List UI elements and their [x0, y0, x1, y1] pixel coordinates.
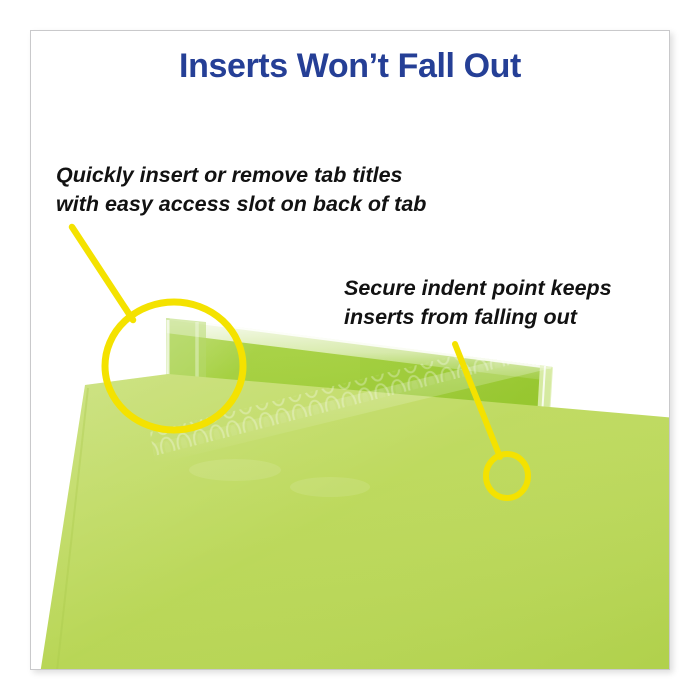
- callout-easy-access-slot-line1: Quickly insert or remove tab titles: [56, 161, 426, 190]
- page-title: Inserts Won’t Fall Out: [31, 47, 669, 86]
- callout-easy-access-slot: Quickly insert or remove tab titles with…: [56, 161, 426, 219]
- callout-secure-indent-point-line2: inserts from falling out: [344, 303, 612, 332]
- product-photo: [31, 31, 669, 669]
- callout-secure-indent-point: Secure indent point keeps inserts from f…: [344, 274, 612, 332]
- callout-secure-indent-point-line1: Secure indent point keeps: [344, 274, 612, 303]
- headline-text: Inserts Won’t Fall Out: [179, 47, 521, 85]
- image-content-area: Inserts Won’t Fall Out Quickly insert or…: [31, 31, 669, 669]
- callout-easy-access-slot-line2: with easy access slot on back of tab: [56, 190, 426, 219]
- product-feature-callout-image: Inserts Won’t Fall Out Quickly insert or…: [0, 0, 700, 700]
